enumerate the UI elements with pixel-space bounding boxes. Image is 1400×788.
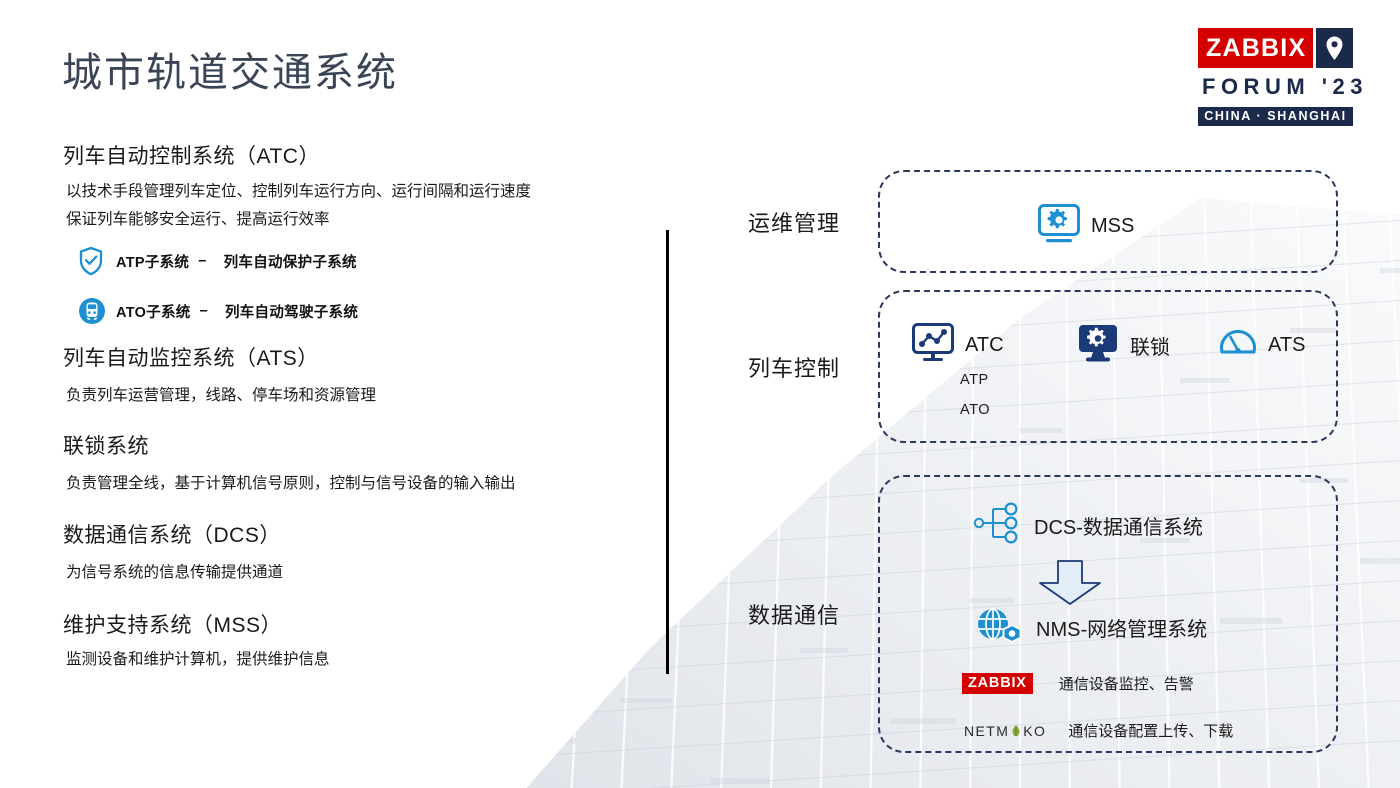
group-label: 运维管理	[748, 206, 878, 238]
slide-canvas: ZABBIX FORUM '23 CHINA · SHANGHAI 城市轨道交通…	[0, 0, 1400, 788]
subsystem-name: 列车自动保护子系统	[224, 251, 357, 272]
group-operations: 运维管理 MSS	[748, 170, 1338, 273]
tool-row-zabbix[interactable]: ZABBIX 通信设备监控、告警	[962, 673, 1194, 694]
left-content-column: 列车自动控制系统（ATC） 以技术手段管理列车定位、控制列车运行方向、运行间隔和…	[63, 140, 663, 674]
page-title: 城市轨道交通系统	[62, 40, 398, 98]
group-box: MSS	[878, 170, 1338, 273]
diagram-item-label: MSS	[1091, 215, 1134, 238]
subsystem-dash: –	[198, 253, 206, 269]
section-heading: 列车自动监控系统（ATS）	[63, 342, 663, 372]
location-pin-icon	[1316, 28, 1353, 68]
group-train-control: 列车控制	[748, 290, 1338, 443]
section-mss: 维护支持系统（MSS） 监测设备和维护计算机，提供维护信息	[63, 609, 663, 674]
diagram-item-ats[interactable]: ATS	[1218, 324, 1305, 367]
zabbix-logo: ZABBIX	[962, 673, 1033, 694]
section-interlocking: 联锁系统 负责管理全线，基于计算机信号原则，控制与信号设备的输入输出	[63, 430, 663, 498]
diagram-item-label: ATS	[1268, 334, 1305, 357]
zabbix-forum-logo: ZABBIX FORUM '23 CHINA · SHANGHAI	[1198, 28, 1353, 126]
subsystem-row-ato: ATO子系统 – 列车自动驾驶子系统	[78, 294, 663, 328]
section-line: 保证列车能够安全运行、提高运行效率	[66, 206, 663, 234]
section-line: 负责列车运营管理，线路、停车场和资源管理	[66, 382, 663, 410]
tool-description: 通信设备监控、告警	[1059, 673, 1194, 694]
section-atc: 列车自动控制系统（ATC） 以技术手段管理列车定位、控制列车运行方向、运行间隔和…	[63, 140, 663, 328]
monitor-graph-icon	[911, 322, 955, 369]
monitor-gear-solid-icon	[1076, 322, 1120, 369]
diagram-item-label: DCS-数据通信系统	[1034, 511, 1203, 540]
section-line: 以技术手段管理列车定位、控制列车运行方向、运行间隔和运行速度	[66, 178, 663, 206]
section-line: 监测设备和维护计算机，提供维护信息	[66, 646, 663, 674]
section-line: 为信号系统的信息传输提供通道	[66, 559, 663, 587]
subsystem-row-atp: ATP子系统 – 列车自动保护子系统	[78, 244, 663, 278]
globe-gear-icon	[972, 603, 1026, 652]
section-heading: 维护支持系统（MSS）	[63, 609, 663, 639]
diagram-item-label: ATC	[965, 334, 1004, 357]
group-box: ATC 联锁	[878, 290, 1338, 443]
netmiko-logo-suffix: KO	[1023, 723, 1046, 739]
group-label: 数据通信	[748, 598, 878, 630]
logo-city-text: CHINA · SHANGHAI	[1198, 107, 1353, 126]
tool-row-netmiko[interactable]: NETM KO 通信设备配置上传、下载	[964, 720, 1233, 741]
gauge-icon	[1218, 324, 1258, 367]
diagram-item-atc[interactable]: ATC	[911, 322, 1004, 369]
section-heading: 联锁系统	[63, 430, 663, 460]
diagram-item-label: NMS-网络管理系统	[1036, 613, 1207, 642]
diagram-item-label: 联锁	[1130, 331, 1170, 360]
diagram-note-atp: ATP	[960, 372, 989, 388]
subsystem-code: ATP子系统	[116, 251, 189, 272]
subsystem-dash: –	[200, 303, 208, 319]
subsystem-code: ATO子系统	[116, 301, 191, 322]
tool-description: 通信设备配置上传、下载	[1068, 720, 1233, 741]
monitor-gear-icon	[1037, 203, 1081, 250]
netmiko-logo: NETM KO	[964, 723, 1046, 739]
section-line: 负责管理全线，基于计算机信号原则，控制与信号设备的输入输出	[66, 470, 663, 498]
netmiko-logo-prefix: NETM	[964, 723, 1009, 739]
diagram-item-dcs[interactable]: DCS-数据通信系统	[970, 499, 1203, 552]
logo-forum-text: FORUM '23	[1198, 74, 1353, 100]
shield-check-icon	[78, 246, 108, 276]
vertical-divider	[666, 230, 669, 674]
group-data-communication: 数据通信 DCS-数据通信系统	[748, 475, 1338, 753]
section-ats: 列车自动监控系统（ATS） 负责列车运营管理，线路、停车场和资源管理	[63, 342, 663, 410]
section-heading: 数据通信系统（DCS）	[63, 519, 663, 549]
diagram-item-interlocking[interactable]: 联锁	[1076, 322, 1170, 369]
diagram-item-nms[interactable]: NMS-网络管理系统	[972, 603, 1207, 652]
group-label: 列车控制	[748, 351, 878, 383]
network-tree-icon	[970, 499, 1024, 552]
diagram-note-ato: ATO	[960, 402, 990, 418]
subsystem-name: 列车自动驾驶子系统	[225, 301, 358, 322]
train-circle-icon	[78, 297, 108, 325]
group-box: DCS-数据通信系统	[878, 475, 1338, 753]
section-dcs: 数据通信系统（DCS） 为信号系统的信息传输提供通道	[63, 519, 663, 587]
zabbix-wordmark: ZABBIX	[1198, 28, 1313, 68]
section-heading: 列车自动控制系统（ATC）	[63, 140, 663, 170]
diagram-item-mss[interactable]: MSS	[1037, 203, 1134, 250]
